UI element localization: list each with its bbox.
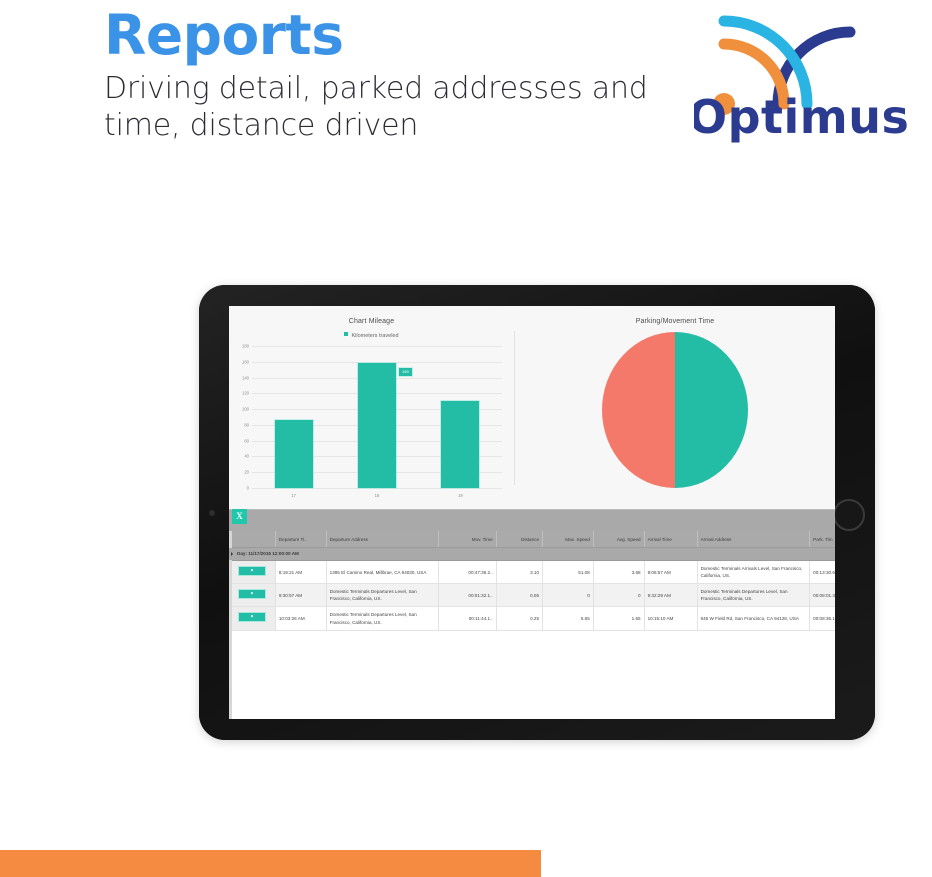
expand-arrow-icon[interactable] [231,552,233,556]
map-pin-icon[interactable] [238,612,266,622]
pie-slice-parking[interactable] [602,332,675,488]
cell-max-speed: 51.08 [543,561,594,584]
col-header-select[interactable] [229,531,275,548]
y-tick-label: 0 [247,486,249,491]
cell-departure-time: 9:30:57 AM [275,584,326,607]
col-header-max-speed[interactable]: Max. Speed [543,531,594,548]
y-tick-label: 20 [244,470,249,475]
group-row[interactable]: Day: 11/17/2015 12:00:00 AM [229,548,835,561]
cell-arrival-time: 9:06:57 AM [644,561,697,584]
pie-chart-panel[interactable]: Parking/Movement Time [515,306,835,509]
cell-arrival-address: Domestic Terminals Arrivals Level, San F… [697,561,810,584]
bar-17[interactable] [275,420,313,488]
bar-19[interactable] [441,401,479,488]
bar-chart-title: Chart Mileage [229,318,514,325]
x-tick-label: 18 [375,493,380,498]
map-pin-icon[interactable] [238,566,266,576]
legend-swatch-icon [344,332,348,336]
pie-chart-title: Parking/Movement Time [515,318,835,325]
cell-park-time: 00:13:30.6.. [810,561,835,584]
cell-mov-time: 00:47:36.2.. [439,561,496,584]
tablet-device: Chart Mileage Kilometers traveled 020406… [199,285,875,740]
cell-max-speed: 5.65 [543,607,594,630]
bar-chart-legend[interactable]: Kilometers traveled [229,332,514,339]
cell-avg-speed: 0 [593,584,644,607]
report-table: Departure Ti.. Departure Address Mov. Ti… [229,531,835,631]
y-tick-label: 120 [242,391,249,396]
bar-value-tooltip: 159 [398,367,413,377]
cell-arrival-time: 10:15:10 AM [644,607,697,630]
col-header-mov-time[interactable]: Mov. Time [439,531,496,548]
y-tick-label: 80 [244,422,249,427]
logo-wordmark: Optimus [694,90,909,144]
cell-park-time: 00:08:36.1.. [810,607,835,630]
col-header-arrival-address[interactable]: Arrival Address [697,531,810,548]
bar-plot-area: 020406080100120140160180171815919 [252,346,502,488]
y-tick-label: 160 [242,359,249,364]
home-button[interactable] [833,499,865,531]
cell-departure-address: Domestic Terminals Departures Level, San… [326,607,439,630]
bar-column[interactable]: 18 [358,346,396,488]
cell-distance: 3.10 [496,561,542,584]
cell-distance: 0.25 [496,607,542,630]
col-header-park-time[interactable]: Park. Tim [810,531,835,548]
tablet-screen: Chart Mileage Kilometers traveled 020406… [229,306,835,719]
col-header-arrival-time[interactable]: Arrival Time [644,531,697,548]
cell-arrival-address: Domestic Terminals Departures Level, San… [697,584,810,607]
export-excel-icon[interactable]: X [232,509,247,524]
front-camera-icon [209,510,215,516]
pie-slices [602,332,748,488]
cell-mov-time: 00:01:32.1.. [439,584,496,607]
bottom-accent-bar [0,850,541,877]
y-tick-label: 60 [244,438,249,443]
cell-park-time: 00:08:01.3.. [810,584,835,607]
page-subtitle: Driving detail, parked addresses and tim… [104,70,664,144]
cell-departure-time: 8:19:21 AM [275,561,326,584]
charts-area: Chart Mileage Kilometers traveled 020406… [229,306,835,509]
y-tick-label: 180 [242,344,249,349]
grid-toolbar: X [229,509,835,531]
cell-distance: 0.05 [496,584,542,607]
col-header-departure-time[interactable]: Departure Ti.. [275,531,326,548]
cell-departure-time: 10:03:26 AM [275,607,326,630]
bar-chart-panel[interactable]: Chart Mileage Kilometers traveled 020406… [229,306,514,509]
bar-18[interactable] [358,363,396,488]
col-header-distance[interactable]: Distance [496,531,542,548]
data-grid[interactable]: Departure Ti.. Departure Address Mov. Ti… [229,531,835,719]
pie-chart[interactable] [599,332,751,488]
grid-line: 0 [252,488,502,489]
cell-arrival-time: 9:32:29 AM [644,584,697,607]
cell-avg-speed: 3.68 [593,561,644,584]
legend-label: Kilometers traveled [351,333,398,339]
table-row[interactable]: 8:19:21 AM 1395 El Camino Real, Millbrae… [229,561,835,584]
cell-departure-address: Domestic Terminals Departures Level, San… [326,584,439,607]
col-header-departure-address[interactable]: Departure Address [326,531,439,548]
cell-departure-address: 1395 El Camino Real, Millbrae, CA 94030,… [326,561,439,584]
cell-arrival-address: 645 W Field Rd, San Francisco, CA 94128,… [697,607,810,630]
cell-avg-speed: 1.55 [593,607,644,630]
bar-column[interactable]: 17 [275,346,313,488]
col-header-avg-speed[interactable]: Avg. Speed [593,531,644,548]
x-tick-label: 19 [458,493,463,498]
header-block: Reports Driving detail, parked addresses… [104,4,664,144]
bar-column[interactable]: 19 [441,346,479,488]
table-row[interactable]: 10:03:26 AM Domestic Terminals Departure… [229,607,835,630]
x-tick-label: 17 [291,493,296,498]
table-row[interactable]: 9:30:57 AM Domestic Terminals Departures… [229,584,835,607]
page-title: Reports [104,4,664,66]
pie-slice-movement[interactable] [675,332,748,488]
map-pin-icon[interactable] [238,589,266,599]
y-tick-label: 40 [244,454,249,459]
cell-max-speed: 0 [543,584,594,607]
cell-mov-time: 00:11:44.1.. [439,607,496,630]
y-tick-label: 100 [242,407,249,412]
optimus-logo: Optimus [694,0,932,148]
group-row-label: Day: 11/17/2015 12:00:00 AM [237,551,299,556]
y-tick-label: 140 [242,375,249,380]
table-header-row: Departure Ti.. Departure Address Mov. Ti… [229,531,835,548]
